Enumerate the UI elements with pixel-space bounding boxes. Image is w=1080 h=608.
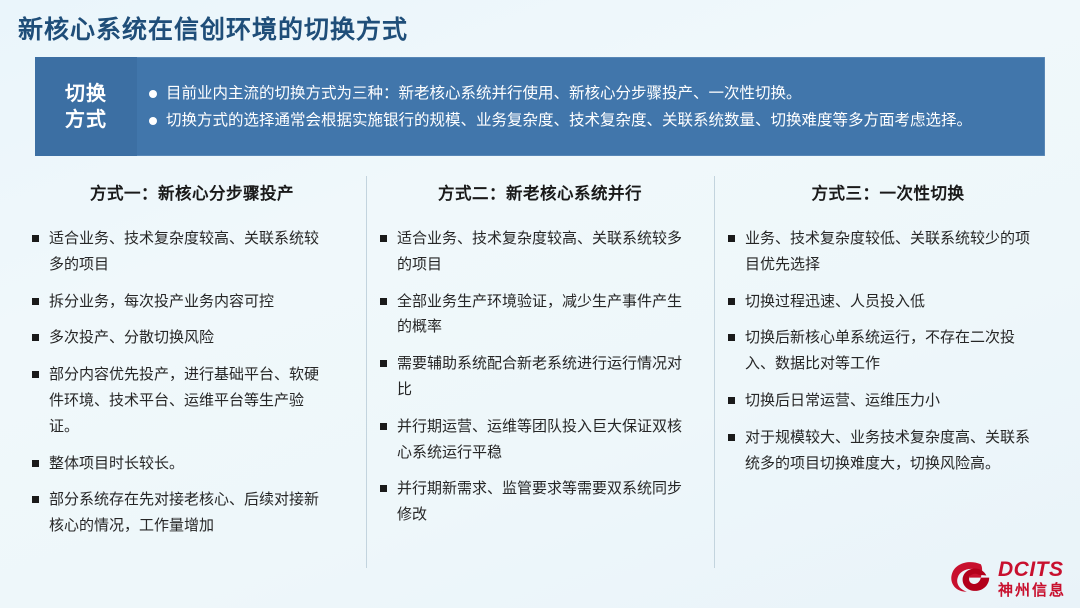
- list-item-text: 切换后日常运营、运维压力小: [745, 388, 1037, 414]
- dcits-swoosh-icon: [950, 560, 992, 598]
- square-bullet-icon: [380, 298, 387, 305]
- list-item-text: 切换后新核心单系统运行，不存在二次投入、数据比对等工作: [745, 325, 1037, 377]
- list-item-text: 需要辅助系统配合新老系统进行运行情况对比: [397, 351, 691, 403]
- banner-body: 目前业内主流的切换方式为三种：新老核心系统并行使用、新核心分步骤投产、一次性切换…: [137, 57, 1045, 156]
- square-bullet-icon: [728, 397, 735, 404]
- list-item-text: 业务、技术复杂度较低、关联系统较少的项目优先选择: [745, 226, 1037, 278]
- logo-chinese-name: 神州信息: [998, 583, 1066, 598]
- list-item-text: 切换过程迅速、人员投入低: [745, 289, 1037, 315]
- slide-canvas: 新核心系统在信创环境的切换方式 切换 方式 目前业内主流的切换方式为三种：新老核…: [0, 0, 1080, 608]
- list-item-text: 整体项目时长较长。: [49, 451, 333, 477]
- banner-bullet-text: 目前业内主流的切换方式为三种：新老核心系统并行使用、新核心分步骤投产、一次性切换…: [166, 82, 1029, 106]
- list-item: 业务、技术复杂度较低、关联系统较少的项目优先选择: [728, 226, 1048, 278]
- logo-english-name: DCITS: [998, 559, 1066, 580]
- list-item: 对于规模较大、业务技术复杂度高、关联系统多的项目切换难度大，切换风险高。: [728, 425, 1048, 477]
- list-item: 切换后日常运营、运维压力小: [728, 388, 1048, 414]
- list-item-text: 对于规模较大、业务技术复杂度高、关联系统多的项目切换难度大，切换风险高。: [745, 425, 1037, 477]
- dot-bullet-icon: [149, 117, 157, 125]
- square-bullet-icon: [32, 496, 39, 503]
- column-method-one: 方式一：新核心分步骤投产 适合业务、技术复杂度较高、关联系统较多的项目 拆分业务…: [18, 172, 366, 572]
- square-bullet-icon: [380, 423, 387, 430]
- list-item-text: 适合业务、技术复杂度较高、关联系统较多的项目: [49, 226, 333, 278]
- banner-bullet-item: 切换方式的选择通常会根据实施银行的规模、业务复杂度、技术复杂度、关联系统数量、切…: [149, 109, 1029, 133]
- square-bullet-icon: [380, 485, 387, 492]
- list-item: 并行期新需求、监管要求等需要双系统同步修改: [380, 476, 700, 528]
- list-item: 整体项目时长较长。: [32, 451, 352, 477]
- company-logo: DCITS 神州信息: [950, 559, 1066, 598]
- list-item-text: 拆分业务，每次投产业务内容可控: [49, 289, 333, 315]
- list-item-text: 多次投产、分散切换风险: [49, 325, 333, 351]
- column-method-two: 方式二：新老核心系统并行 适合业务、技术复杂度较高、关联系统较多的项目 全部业务…: [366, 172, 714, 572]
- square-bullet-icon: [380, 360, 387, 367]
- square-bullet-icon: [728, 434, 735, 441]
- list-item-text: 全部业务生产环境验证，减少生产事件产生的概率: [397, 289, 691, 341]
- list-item-text: 部分系统存在先对接老核心、后续对接新核心的情况，工作量增加: [49, 487, 333, 539]
- bullet-list: 业务、技术复杂度较低、关联系统较少的项目优先选择 切换过程迅速、人员投入低 切换…: [728, 226, 1048, 476]
- banner-label-line2: 方式: [65, 107, 107, 133]
- column-method-three: 方式三：一次性切换 业务、技术复杂度较低、关联系统较少的项目优先选择 切换过程迅…: [714, 172, 1062, 572]
- list-item: 切换后新核心单系统运行，不存在二次投入、数据比对等工作: [728, 325, 1048, 377]
- list-item: 需要辅助系统配合新老系统进行运行情况对比: [380, 351, 700, 403]
- bullet-list: 适合业务、技术复杂度较高、关联系统较多的项目 拆分业务，每次投产业务内容可控 多…: [32, 226, 352, 539]
- square-bullet-icon: [32, 460, 39, 467]
- page-title: 新核心系统在信创环境的切换方式: [18, 10, 408, 46]
- list-item-text: 并行期运营、运维等团队投入巨大保证双核心系统运行平稳: [397, 414, 691, 466]
- list-item: 适合业务、技术复杂度较高、关联系统较多的项目: [380, 226, 700, 278]
- list-item: 切换过程迅速、人员投入低: [728, 289, 1048, 315]
- list-item-text: 适合业务、技术复杂度较高、关联系统较多的项目: [397, 226, 691, 278]
- banner-label: 切换 方式: [35, 57, 137, 156]
- column-title: 方式二：新老核心系统并行: [380, 180, 700, 204]
- dot-bullet-icon: [149, 90, 157, 98]
- list-item-text: 并行期新需求、监管要求等需要双系统同步修改: [397, 476, 691, 528]
- square-bullet-icon: [728, 298, 735, 305]
- list-item: 部分系统存在先对接老核心、后续对接新核心的情况，工作量增加: [32, 487, 352, 539]
- square-bullet-icon: [380, 235, 387, 242]
- list-item: 拆分业务，每次投产业务内容可控: [32, 289, 352, 315]
- banner-bullet-item: 目前业内主流的切换方式为三种：新老核心系统并行使用、新核心分步骤投产、一次性切换…: [149, 82, 1029, 106]
- list-item: 并行期运营、运维等团队投入巨大保证双核心系统运行平稳: [380, 414, 700, 466]
- column-title: 方式三：一次性切换: [728, 180, 1048, 204]
- banner-label-line1: 切换: [65, 81, 107, 107]
- logo-text: DCITS 神州信息: [998, 559, 1066, 598]
- square-bullet-icon: [32, 334, 39, 341]
- square-bullet-icon: [32, 235, 39, 242]
- list-item: 适合业务、技术复杂度较高、关联系统较多的项目: [32, 226, 352, 278]
- bullet-list: 适合业务、技术复杂度较高、关联系统较多的项目 全部业务生产环境验证，减少生产事件…: [380, 226, 700, 528]
- square-bullet-icon: [32, 298, 39, 305]
- summary-banner: 切换 方式 目前业内主流的切换方式为三种：新老核心系统并行使用、新核心分步骤投产…: [35, 57, 1045, 156]
- comparison-columns: 方式一：新核心分步骤投产 适合业务、技术复杂度较高、关联系统较多的项目 拆分业务…: [18, 172, 1062, 572]
- square-bullet-icon: [728, 235, 735, 242]
- banner-bullet-text: 切换方式的选择通常会根据实施银行的规模、业务复杂度、技术复杂度、关联系统数量、切…: [166, 109, 1029, 133]
- square-bullet-icon: [728, 334, 735, 341]
- square-bullet-icon: [32, 371, 39, 378]
- list-item: 多次投产、分散切换风险: [32, 325, 352, 351]
- column-title: 方式一：新核心分步骤投产: [32, 180, 352, 204]
- list-item: 部分内容优先投产，进行基础平台、软硬件环境、技术平台、运维平台等生产验证。: [32, 362, 352, 439]
- list-item-text: 部分内容优先投产，进行基础平台、软硬件环境、技术平台、运维平台等生产验证。: [49, 362, 333, 439]
- list-item: 全部业务生产环境验证，减少生产事件产生的概率: [380, 289, 700, 341]
